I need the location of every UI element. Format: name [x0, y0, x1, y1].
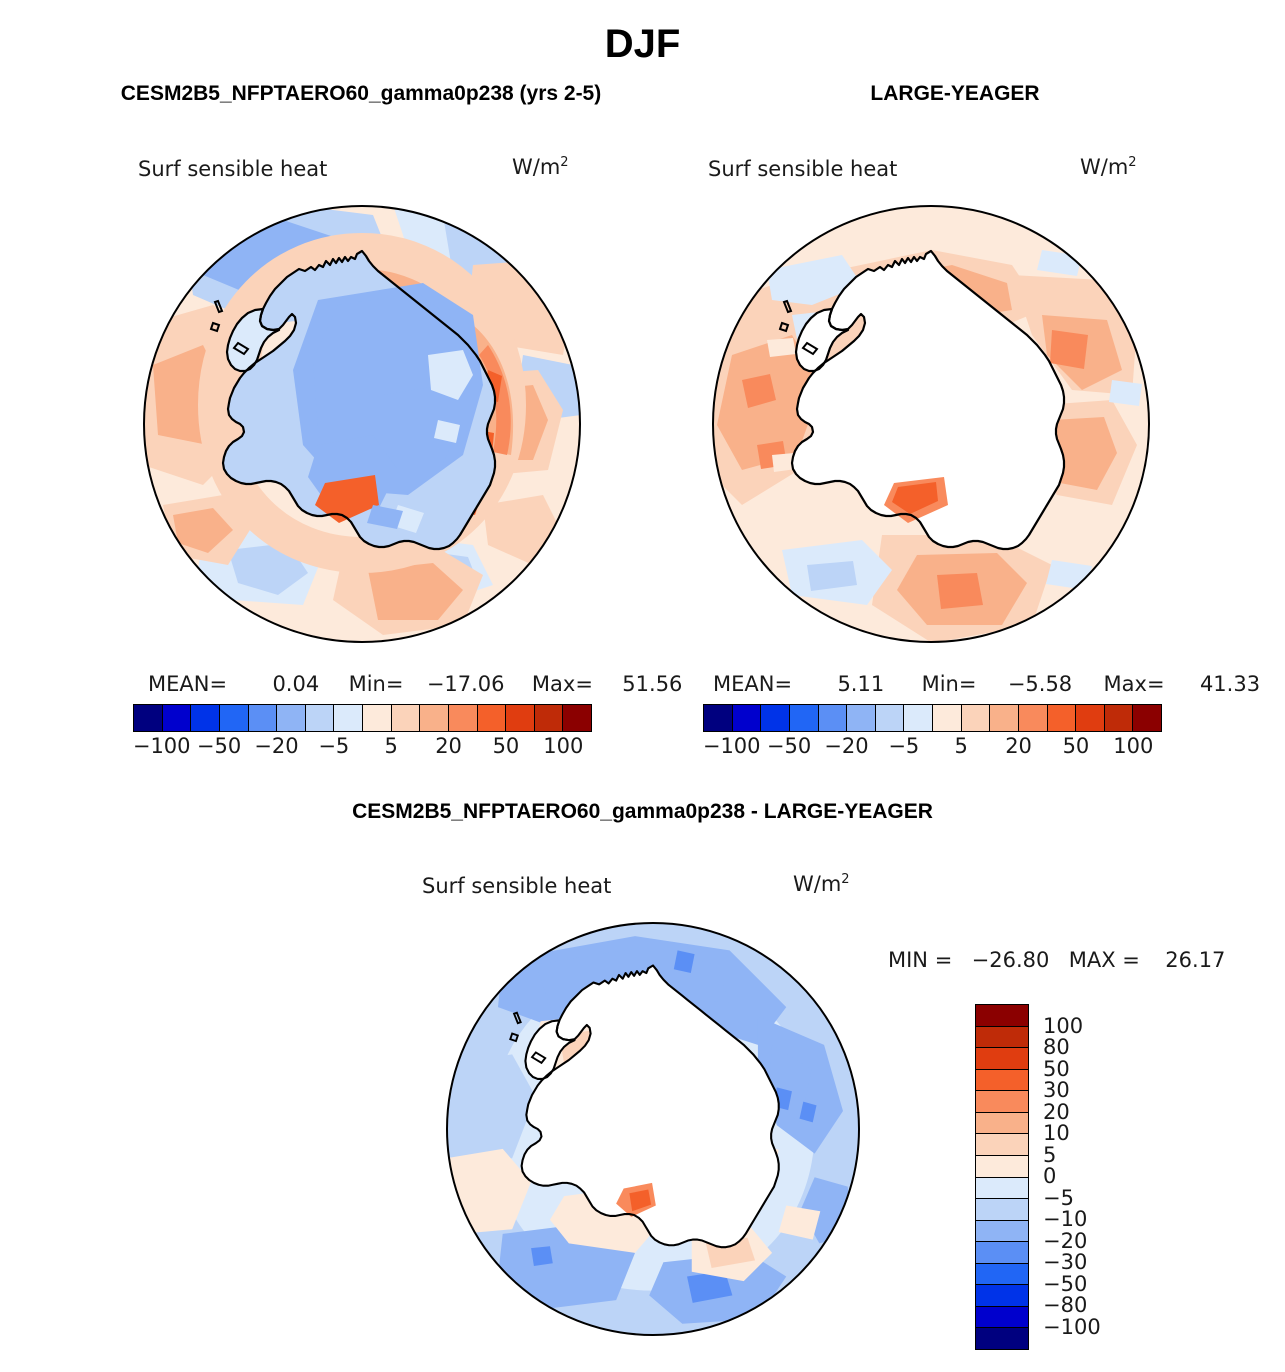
colorbar-tick-label: −100 — [1043, 1315, 1101, 1339]
colorbar-cell — [976, 1328, 1028, 1349]
colorbar-model-labels: −100−50−20−552050100 — [133, 732, 592, 760]
map-model-field — [143, 205, 581, 643]
colorbar-obs: −100−50−20−552050100 — [703, 704, 1162, 760]
colorbar-tick-label: 0 — [1043, 1164, 1056, 1188]
colorbar-cell — [976, 1070, 1028, 1092]
minmax-difference: MIN = −26.80 MAX = 26.17 — [888, 948, 1225, 972]
colorbar-cell — [134, 705, 163, 731]
colorbar-difference-cells — [975, 1004, 1029, 1350]
colorbar-difference — [975, 1004, 1029, 1350]
colorbar-tick-label: −5 — [1043, 1186, 1074, 1210]
units-text: W/m — [1080, 155, 1128, 179]
colorbar-cell — [976, 1285, 1028, 1307]
colorbar-cell — [819, 705, 848, 731]
colorbar-tick-label: −5 — [888, 734, 919, 758]
colorbar-cell — [976, 1178, 1028, 1200]
colorbar-tick-label: 100 — [1113, 734, 1153, 758]
colorbar-tick-label: 100 — [1043, 1014, 1083, 1038]
map-difference-field — [446, 922, 860, 1336]
colorbar-cell — [904, 705, 933, 731]
colorbar-cell — [847, 705, 876, 731]
map-difference — [446, 922, 860, 1336]
panel-title-obs: LARGE-YEAGER — [655, 82, 1255, 106]
colorbar-cell — [976, 1027, 1028, 1049]
stats-min-label-model: Min= — [349, 672, 404, 696]
stats-max-label-model: Max= — [532, 672, 593, 696]
stats-mean-value-obs: 5.11 — [837, 672, 884, 696]
colorbar-tick-label: 20 — [1005, 734, 1032, 758]
colorbar-cell — [976, 1264, 1028, 1286]
colorbar-cell — [420, 705, 449, 731]
stats-mean-label-model: MEAN= — [148, 672, 227, 696]
stats-max-label-obs: Max= — [1104, 672, 1165, 696]
colorbar-cell — [976, 1307, 1028, 1329]
season-title: DJF — [0, 22, 1285, 67]
colorbar-cell — [306, 705, 335, 731]
colorbar-obs-cells — [703, 704, 1162, 732]
colorbar-cell — [449, 705, 478, 731]
colorbar-tick-label: 5 — [385, 734, 398, 758]
colorbar-cell — [220, 705, 249, 731]
units-exponent: 2 — [560, 155, 568, 170]
map-obs-field — [712, 205, 1150, 643]
colorbar-cell — [976, 1134, 1028, 1156]
colorbar-cell — [506, 705, 535, 731]
colorbar-cell — [976, 1005, 1028, 1027]
variable-label-obs: Surf sensible heat — [708, 157, 897, 181]
colorbar-cell — [976, 1242, 1028, 1264]
colorbar-tick-label: 10 — [1043, 1121, 1070, 1145]
colorbar-cell — [535, 705, 564, 731]
colorbar-cell — [1048, 705, 1077, 731]
colorbar-cell — [334, 705, 363, 731]
colorbar-cell — [976, 1221, 1028, 1243]
stats-mean-value-model: 0.04 — [272, 672, 319, 696]
colorbar-cell — [761, 705, 790, 731]
colorbar-cell — [976, 1091, 1028, 1113]
colorbar-cell — [933, 705, 962, 731]
colorbar-cell — [976, 1199, 1028, 1221]
colorbar-tick-label: −10 — [1043, 1207, 1087, 1231]
colorbar-tick-label: −50 — [767, 734, 811, 758]
colorbar-model: −100−50−20−552050100 — [133, 704, 592, 760]
map-obs-svg — [712, 205, 1150, 643]
variable-label-model: Surf sensible heat — [138, 157, 327, 181]
colorbar-tick-label: 100 — [543, 734, 583, 758]
colorbar-cell — [976, 1048, 1028, 1070]
variable-label-difference: Surf sensible heat — [422, 874, 611, 898]
minmax-max-value: 26.17 — [1165, 948, 1225, 972]
panel-title-difference: CESM2B5_NFPTAERO60_gamma0p238 - LARGE-YE… — [0, 800, 1285, 824]
colorbar-cell — [976, 1113, 1028, 1135]
colorbar-tick-label: 5 — [1043, 1143, 1056, 1167]
colorbar-cell — [733, 705, 762, 731]
colorbar-tick-label: 20 — [435, 734, 462, 758]
minmax-min-label: MIN = — [888, 948, 952, 972]
colorbar-cell — [962, 705, 991, 731]
colorbar-cell — [976, 1156, 1028, 1178]
map-obs — [712, 205, 1150, 643]
colorbar-tick-label: 50 — [1043, 1057, 1070, 1081]
colorbar-cell — [704, 705, 733, 731]
colorbar-tick-label: −30 — [1043, 1250, 1087, 1274]
colorbar-tick-label: 50 — [493, 734, 520, 758]
colorbar-model-cells — [133, 704, 592, 732]
minmax-max-label: MAX = — [1069, 948, 1140, 972]
stats-min-label-obs: Min= — [922, 672, 977, 696]
colorbar-cell — [191, 705, 220, 731]
colorbar-cell — [990, 705, 1019, 731]
colorbar-cell — [392, 705, 421, 731]
colorbar-cell — [249, 705, 278, 731]
stats-max-value-obs: 41.33 — [1200, 672, 1260, 696]
colorbar-obs-labels: −100−50−20−552050100 — [703, 732, 1162, 760]
panel-title-model: CESM2B5_NFPTAERO60_gamma0p238 (yrs 2-5) — [25, 82, 697, 106]
units-label-model: W/m2 — [512, 155, 569, 179]
colorbar-cell — [478, 705, 507, 731]
colorbar-tick-label: 20 — [1043, 1100, 1070, 1124]
colorbar-tick-label: −20 — [1043, 1229, 1087, 1253]
stats-obs: MEAN= 5.11 Min= −5.58 Max= 41.33 — [713, 672, 1260, 696]
colorbar-tick-label: −50 — [1043, 1272, 1087, 1296]
colorbar-cell — [563, 705, 591, 731]
colorbar-tick-label: −50 — [197, 734, 241, 758]
colorbar-tick-label: 80 — [1043, 1035, 1070, 1059]
colorbar-tick-label: 5 — [955, 734, 968, 758]
colorbar-tick-label: 30 — [1043, 1078, 1070, 1102]
colorbar-cell — [1076, 705, 1105, 731]
colorbar-tick-label: −20 — [254, 734, 298, 758]
colorbar-cell — [277, 705, 306, 731]
stats-max-value-model: 51.56 — [622, 672, 682, 696]
colorbar-tick-label: −80 — [1043, 1293, 1087, 1317]
map-difference-svg — [446, 922, 860, 1336]
colorbar-cell — [363, 705, 392, 731]
colorbar-tick-label: −100 — [133, 734, 191, 758]
units-text: W/m — [793, 872, 841, 896]
colorbar-tick-label: −20 — [824, 734, 868, 758]
units-exponent: 2 — [841, 872, 849, 887]
colorbar-cell — [876, 705, 905, 731]
colorbar-tick-label: −100 — [703, 734, 761, 758]
stats-min-value-obs: −5.58 — [1008, 672, 1072, 696]
colorbar-cell — [1105, 705, 1134, 731]
colorbar-difference-labels: 100805030201050−5−10−20−30−50−80−100 — [1043, 1004, 1133, 1348]
colorbar-tick-label: 50 — [1063, 734, 1090, 758]
colorbar-cell — [1133, 705, 1161, 731]
units-label-difference: W/m2 — [793, 872, 850, 896]
units-exponent: 2 — [1128, 155, 1136, 170]
colorbar-tick-label: −5 — [318, 734, 349, 758]
stats-min-value-model: −17.06 — [427, 672, 505, 696]
map-model-svg — [143, 205, 581, 643]
stats-model: MEAN= 0.04 Min= −17.06 Max= 51.56 — [148, 672, 682, 696]
stats-mean-label-obs: MEAN= — [713, 672, 792, 696]
units-text: W/m — [512, 155, 560, 179]
colorbar-cell — [1019, 705, 1048, 731]
units-label-obs: W/m2 — [1080, 155, 1137, 179]
colorbar-cell — [790, 705, 819, 731]
map-model — [143, 205, 581, 643]
minmax-min-value: −26.80 — [972, 948, 1050, 972]
colorbar-cell — [163, 705, 192, 731]
